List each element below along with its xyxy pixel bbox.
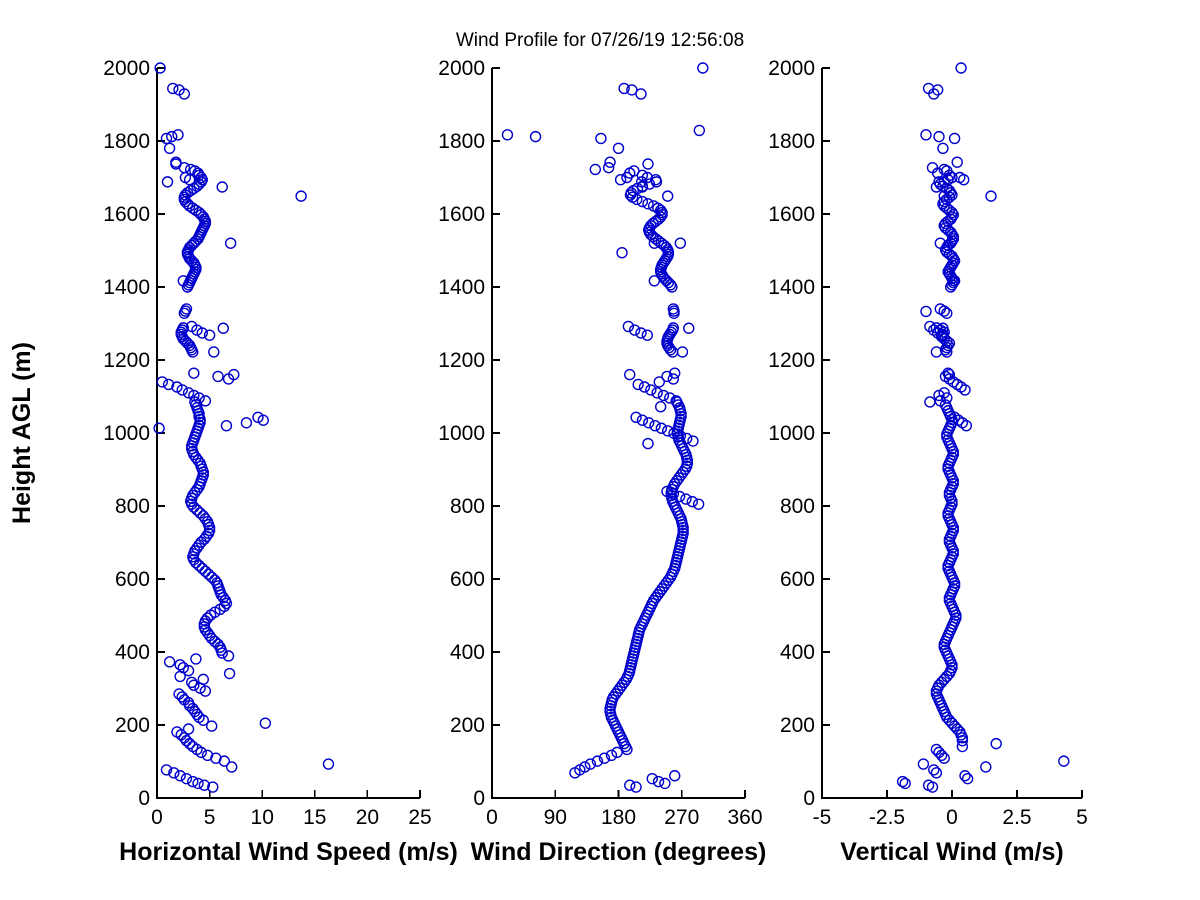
data-point (227, 762, 237, 772)
x-tick-label: 5 (1076, 806, 1088, 829)
data-point (956, 63, 966, 73)
data-point (614, 143, 624, 153)
data-point (656, 402, 666, 412)
panel-1: 0200400600800100012001400160018002000051… (103, 57, 458, 866)
data-point (168, 83, 178, 93)
data-point (643, 159, 653, 169)
data-point (616, 175, 626, 185)
y-tick-label: 400 (450, 641, 485, 664)
data-point (939, 674, 949, 684)
data-point (217, 182, 227, 192)
y-tick-label: 1800 (103, 130, 150, 153)
data-point (157, 377, 167, 387)
y-tick-label: 1000 (768, 422, 815, 445)
y-tick-label: 1800 (768, 130, 815, 153)
data-point (226, 238, 236, 248)
y-tick-label: 1000 (103, 422, 150, 445)
data-point (189, 368, 199, 378)
x-tick-label: 0 (486, 806, 498, 829)
data-point (650, 421, 660, 431)
data-point (986, 191, 996, 201)
x-tick-label: 2.5 (1002, 806, 1031, 829)
data-point (643, 439, 653, 449)
y-tick-label: 200 (780, 714, 815, 737)
x-tick-label: -5 (813, 806, 832, 829)
figure-title: Wind Profile for 07/26/19 12:56:08 (456, 30, 744, 51)
data-point (181, 774, 191, 784)
x-tick-label: 90 (544, 806, 567, 829)
data-point (175, 771, 185, 781)
data-point (921, 306, 931, 316)
wind-profile-svg: Wind Profile for 07/26/19 12:56:08Height… (0, 0, 1200, 900)
data-point (174, 689, 184, 699)
data-point (663, 426, 673, 436)
data-point (952, 157, 962, 167)
panel-2-x-axis-label: Wind Direction (degrees) (471, 838, 767, 866)
panel-2-data-points (502, 63, 707, 792)
y-tick-label: 0 (138, 787, 150, 810)
data-point (694, 125, 704, 135)
data-point (963, 774, 973, 784)
data-point (200, 396, 210, 406)
data-point (647, 774, 657, 784)
data-point (643, 199, 653, 209)
y-tick-label: 800 (450, 495, 485, 518)
data-point (154, 423, 164, 433)
y-tick-label: 200 (450, 714, 485, 737)
data-point (960, 771, 970, 781)
panel-1-x-axis-label: Horizontal Wind Speed (m/s) (119, 838, 458, 866)
data-point (675, 238, 685, 248)
data-point (649, 276, 659, 286)
data-point (921, 130, 931, 140)
data-point (165, 143, 175, 153)
data-point (640, 382, 650, 392)
panel-3-data-points (898, 63, 1069, 792)
data-point (668, 374, 678, 384)
data-point (296, 191, 306, 201)
data-point (323, 759, 333, 769)
data-point (681, 494, 691, 504)
data-point (636, 328, 646, 338)
data-point (656, 423, 666, 433)
data-point (900, 778, 910, 788)
y-tick-label: 600 (450, 568, 485, 591)
data-point (207, 721, 217, 731)
data-point (925, 397, 935, 407)
data-point (687, 497, 697, 507)
data-point (175, 671, 185, 681)
data-point (631, 782, 641, 792)
data-point (617, 248, 627, 258)
y-tick-label: 1200 (768, 349, 815, 372)
data-point (204, 569, 214, 579)
data-point (698, 63, 708, 73)
y-tick-label: 400 (115, 641, 150, 664)
data-point (221, 421, 231, 431)
y-tick-label: 2000 (438, 57, 485, 80)
y-tick-label: 400 (780, 641, 815, 664)
data-point (189, 680, 199, 690)
x-tick-label: 360 (727, 806, 762, 829)
data-point (622, 744, 632, 754)
data-point (938, 143, 948, 153)
panel-3-x-axis-label: Vertical Wind (m/s) (840, 838, 1063, 866)
data-point (646, 385, 656, 395)
data-point (663, 191, 673, 201)
data-point (684, 323, 694, 333)
data-point (637, 197, 647, 207)
panel-2: 0200400600800100012001400160018002000090… (438, 57, 766, 866)
y-tick-label: 600 (780, 568, 815, 591)
y-tick-label: 1400 (103, 276, 150, 299)
data-point (950, 133, 960, 143)
data-point (670, 771, 680, 781)
y-tick-label: 1600 (768, 203, 815, 226)
panel-3: 0200400600800100012001400160018002000-5-… (768, 57, 1088, 866)
data-point (637, 415, 647, 425)
data-point (1059, 756, 1069, 766)
y-tick-label: 600 (115, 568, 150, 591)
x-tick-label: 25 (408, 806, 431, 829)
y-tick-label: 1600 (103, 203, 150, 226)
data-point (934, 132, 944, 142)
y-tick-label: 1800 (438, 130, 485, 153)
y-tick-label: 800 (115, 495, 150, 518)
y-tick-label: 2000 (103, 57, 150, 80)
data-point (633, 379, 643, 389)
x-tick-label: 270 (664, 806, 699, 829)
data-point (654, 777, 664, 787)
data-point (224, 651, 234, 661)
x-tick-label: -2.5 (869, 806, 905, 829)
data-point (931, 768, 941, 778)
data-point (218, 323, 228, 333)
data-point (241, 418, 251, 428)
data-point (191, 654, 201, 664)
y-tick-label: 2000 (768, 57, 815, 80)
y-tick-label: 1200 (103, 349, 150, 372)
x-tick-label: 180 (601, 806, 636, 829)
data-point (625, 780, 635, 790)
data-point (209, 347, 219, 357)
y-tick-label: 1200 (438, 349, 485, 372)
data-point (644, 418, 654, 428)
data-point (694, 499, 704, 509)
y-tick-label: 1400 (438, 276, 485, 299)
panel-1-data-points (154, 63, 333, 792)
data-point (660, 778, 670, 788)
x-tick-label: 20 (356, 806, 379, 829)
data-point (929, 765, 939, 775)
data-point (652, 388, 662, 398)
x-tick-label: 15 (303, 806, 326, 829)
data-point (654, 377, 664, 387)
data-point (165, 657, 175, 667)
data-point (931, 347, 941, 357)
data-point (590, 164, 600, 174)
x-tick-label: 10 (251, 806, 274, 829)
data-point (636, 89, 646, 99)
data-point (991, 739, 1001, 749)
y-tick-label: 800 (780, 495, 815, 518)
x-tick-label: 5 (204, 806, 216, 829)
y-tick-label: 0 (473, 787, 485, 810)
data-point (688, 436, 698, 446)
data-point (225, 669, 235, 679)
data-point (596, 133, 606, 143)
data-point (658, 390, 668, 400)
data-point (625, 370, 635, 380)
data-point (939, 753, 949, 763)
data-point (631, 412, 641, 422)
data-point (677, 347, 687, 357)
data-point (918, 759, 928, 769)
y-tick-label: 200 (115, 714, 150, 737)
data-point (173, 130, 183, 140)
data-point (642, 330, 652, 340)
y-axis-label: Height AGL (m) (8, 342, 36, 524)
data-point (981, 762, 991, 772)
data-point (213, 371, 223, 381)
y-tick-label: 1600 (438, 203, 485, 226)
data-point (531, 132, 541, 142)
data-point (260, 718, 270, 728)
data-point (502, 130, 512, 140)
x-tick-label: 0 (151, 806, 163, 829)
data-point (181, 736, 191, 746)
y-tick-label: 1000 (438, 422, 485, 445)
y-tick-label: 1400 (768, 276, 815, 299)
wind-profile-figure: Wind Profile for 07/26/19 12:56:08Height… (0, 0, 1200, 900)
data-point (934, 747, 944, 757)
data-point (163, 177, 173, 187)
x-tick-label: 0 (946, 806, 958, 829)
